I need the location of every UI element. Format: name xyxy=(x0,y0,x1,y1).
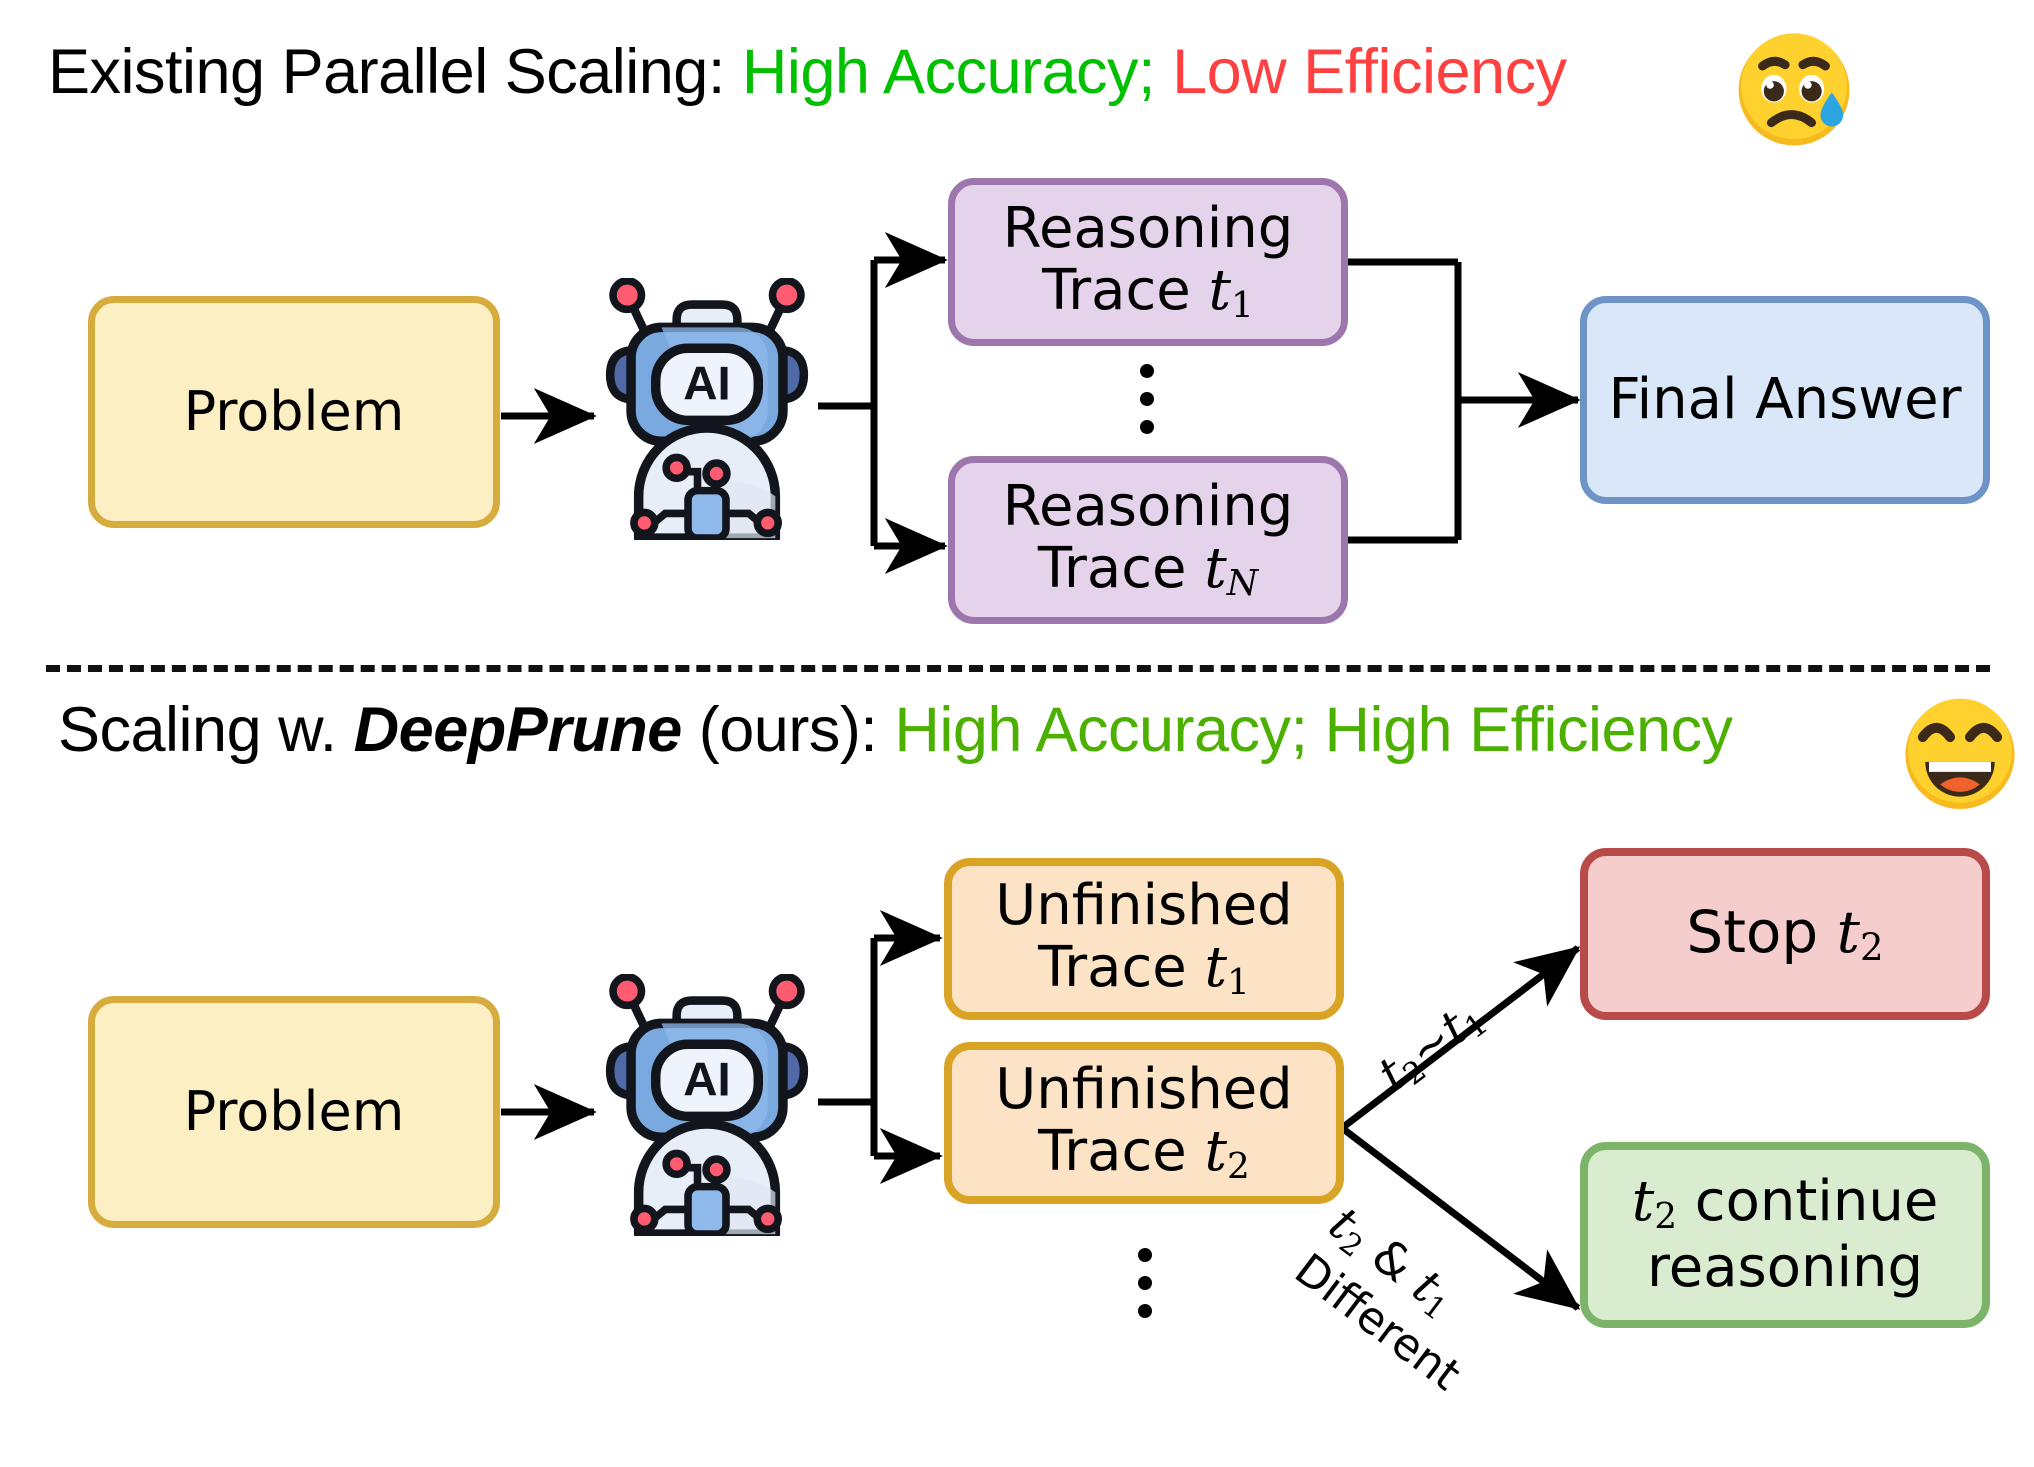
reasoning-trace-first-box[interactable]: Reasoning Trace t1 xyxy=(948,178,1348,346)
bottom-ellipsis xyxy=(1138,1248,1152,1318)
diagram-canvas: Existing Parallel Scaling: High Accuracy… xyxy=(0,0,2034,1467)
reasoning-trace-last-box[interactable]: Reasoning Trace tN xyxy=(948,456,1348,624)
continue-reasoning-label: t2 continue reasoning xyxy=(1588,1171,1982,1300)
unfinished-trace-second-box[interactable]: Unfinished Trace t2 xyxy=(944,1042,1344,1204)
top-header-accuracy: High Accuracy; xyxy=(742,37,1155,107)
bottom-header-accuracy: High Accuracy; xyxy=(894,695,1307,765)
bottom-header: Scaling w. DeepPrune (ours): High Accura… xyxy=(58,694,1733,766)
reasoning-trace-first-label: Reasoning Trace t1 xyxy=(955,198,1341,327)
problem-box-bottom-label: Problem xyxy=(178,1082,411,1142)
top-header: Existing Parallel Scaling: High Accuracy… xyxy=(48,36,1567,108)
bottom-header-prefix-b: (ours): xyxy=(682,695,878,765)
top-header-prefix: Existing Parallel Scaling: xyxy=(48,37,725,107)
reasoning-trace-last-label: Reasoning Trace tN xyxy=(955,476,1341,605)
problem-box-top[interactable]: Problem xyxy=(88,296,500,528)
sad-with-tear-emoji xyxy=(1731,27,1857,153)
section-divider xyxy=(46,665,1990,672)
top-header-efficiency: Low Efficiency xyxy=(1172,37,1567,107)
problem-box-top-label: Problem xyxy=(178,382,411,442)
problem-box-bottom[interactable]: Problem xyxy=(88,996,500,1228)
edge-label-similar: t2~t1 xyxy=(1368,989,1495,1104)
unfinished-trace-first-box[interactable]: Unfinished Trace t1 xyxy=(944,858,1344,1020)
svg-text:AI: AI xyxy=(683,358,730,411)
final-answer-label: Final Answer xyxy=(1602,369,1967,432)
stop-box[interactable]: Stop t2 xyxy=(1580,848,1990,1020)
unfinished-trace-first-label: Unfinished Trace t1 xyxy=(952,875,1336,1004)
bottom-header-efficiency: High Efficiency xyxy=(1325,695,1733,765)
continue-reasoning-box[interactable]: t2 continue reasoning xyxy=(1580,1142,1990,1328)
bottom-header-method-name: DeepPrune xyxy=(354,695,682,765)
svg-text:AI: AI xyxy=(683,1054,730,1107)
ai-robot-icon-top: AI xyxy=(592,278,822,540)
final-answer-box[interactable]: Final Answer xyxy=(1580,296,1990,504)
grinning-smiling-eyes-emoji xyxy=(1898,690,2022,814)
ai-robot-icon-bottom: AI xyxy=(592,974,822,1236)
edge-label-different: t2 & t1 Different xyxy=(1285,1196,1506,1400)
unfinished-trace-second-label: Unfinished Trace t2 xyxy=(952,1059,1336,1188)
stop-box-label: Stop t2 xyxy=(1680,900,1889,969)
top-ellipsis xyxy=(1140,364,1154,434)
bottom-header-prefix-a: Scaling w. xyxy=(58,695,354,765)
